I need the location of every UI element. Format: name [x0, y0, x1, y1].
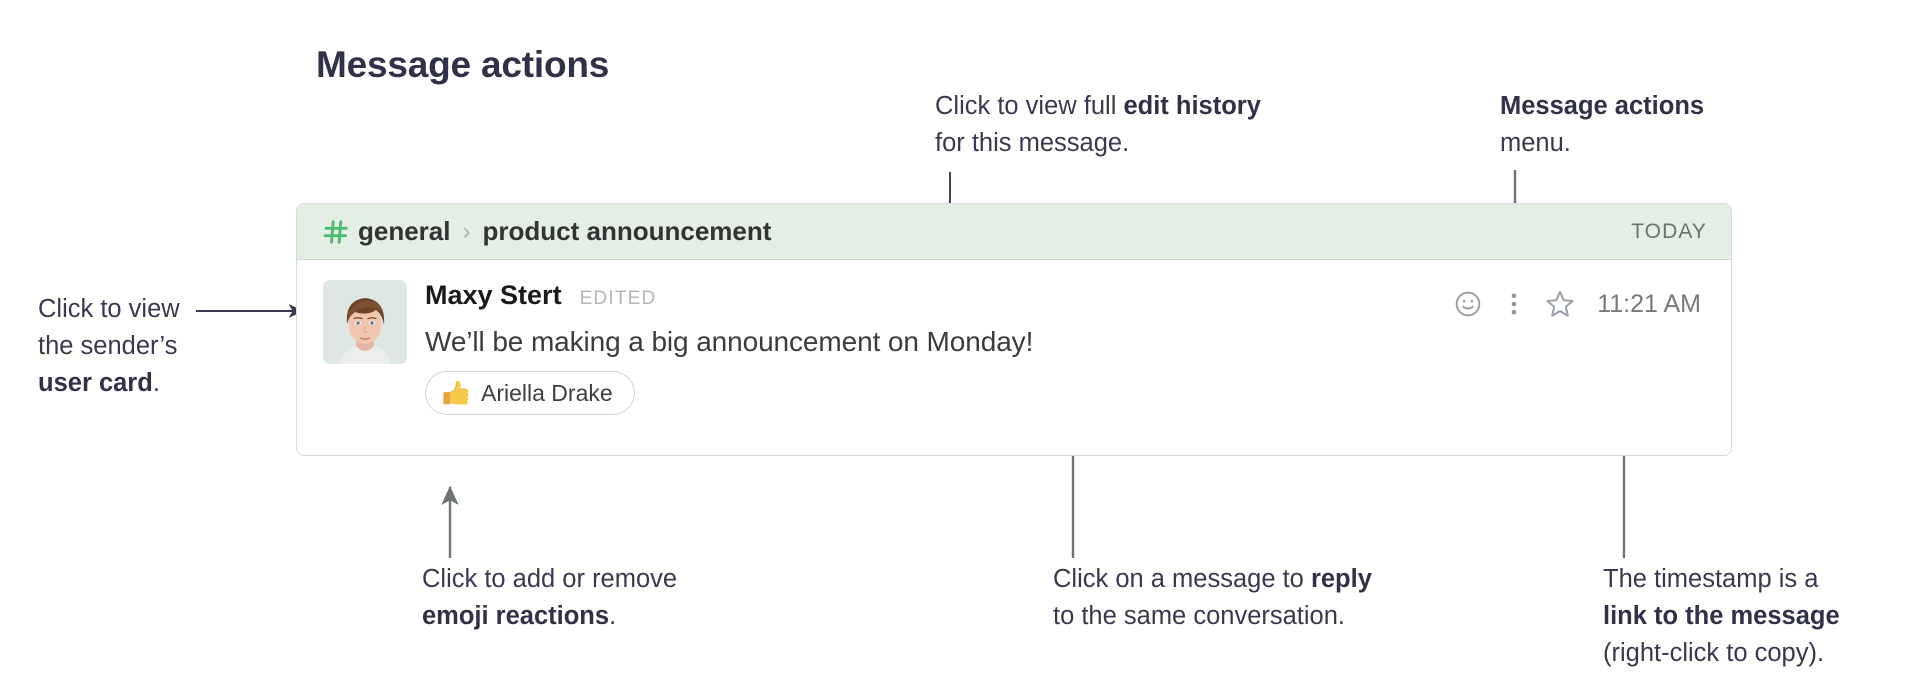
- annotation-actions-menu: Message actions menu.: [1500, 88, 1704, 162]
- annotation-reply-line2: to the same conversation.: [1053, 598, 1372, 635]
- annotation-timestamp-line3: (right-click to copy).: [1603, 635, 1840, 672]
- message-actions: 11:21 AM: [1445, 284, 1701, 324]
- hash-icon: [323, 219, 349, 245]
- sender-name[interactable]: Maxy Stert: [425, 280, 562, 311]
- thumbs-up-emoji: [441, 378, 471, 408]
- annotation-reply-line1-pre: Click on a message to: [1053, 565, 1311, 593]
- message-timestamp[interactable]: 11:21 AM: [1597, 290, 1701, 319]
- message-text: We’ll be making a big announcement on Mo…: [425, 326, 1705, 358]
- annotation-reply-bold: reply: [1311, 565, 1372, 593]
- annotation-user-card-line1: Click to view: [38, 291, 180, 328]
- annotation-emoji-reactions: Click to add or remove emoji reactions.: [422, 561, 677, 635]
- annotation-emoji-bold: emoji reactions: [422, 602, 609, 630]
- page-root: Message actions Click to view full edit …: [0, 0, 1924, 696]
- annotation-timestamp-bold: link to the message: [1603, 602, 1840, 630]
- annotation-timestamp-line1: The timestamp is a: [1603, 561, 1840, 598]
- emoji-reaction-pill[interactable]: Ariella Drake: [425, 371, 635, 415]
- breadcrumb-separator-icon: ›: [463, 220, 471, 244]
- edited-badge[interactable]: EDITED: [580, 288, 657, 310]
- annotation-user-card-line2: the sender’s: [38, 328, 180, 365]
- annotation-edit-history: Click to view full edit history for this…: [935, 88, 1261, 162]
- breadcrumb-topic[interactable]: product announcement: [483, 216, 772, 247]
- annotation-edit-history-line1-pre: Click to view full: [935, 92, 1123, 120]
- message-actions-menu-icon[interactable]: [1491, 284, 1537, 324]
- add-reaction-icon[interactable]: [1445, 284, 1491, 324]
- annotation-edit-history-line2: for this message.: [935, 125, 1261, 162]
- star-icon[interactable]: [1537, 284, 1583, 324]
- message-row[interactable]: Maxy Stert EDITED We’ll be making a big …: [297, 260, 1731, 415]
- annotation-timestamp: The timestamp is a link to the message (…: [1603, 561, 1840, 672]
- avatar[interactable]: [323, 280, 407, 364]
- annotation-reply: Click on a message to reply to the same …: [1053, 561, 1372, 635]
- annotation-actions-menu-line2: menu.: [1500, 125, 1704, 162]
- date-label: TODAY: [1631, 220, 1707, 244]
- annotation-user-card: Click to view the sender’s user card.: [38, 291, 180, 402]
- page-title: Message actions: [316, 44, 609, 86]
- annotation-actions-menu-bold: Message actions: [1500, 92, 1704, 120]
- breadcrumb: general › product announcement TODAY: [297, 204, 1731, 260]
- annotation-user-card-period: .: [153, 369, 160, 397]
- reaction-user-label: Ariella Drake: [481, 380, 613, 407]
- annotation-edit-history-bold: edit history: [1123, 92, 1260, 120]
- annotation-emoji-line1: Click to add or remove: [422, 561, 677, 598]
- annotation-user-card-bold: user card: [38, 369, 153, 397]
- annotation-emoji-period: .: [609, 602, 616, 630]
- message-card: general › product announcement TODAY: [296, 203, 1732, 456]
- avatar-image: [323, 280, 407, 364]
- breadcrumb-stream[interactable]: general: [358, 216, 451, 247]
